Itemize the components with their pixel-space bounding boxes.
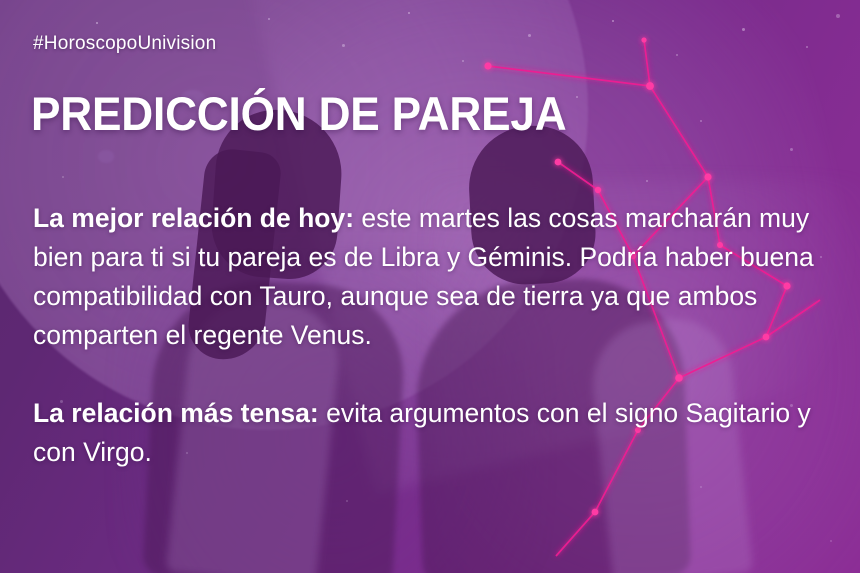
card-content: #HoroscopoUnivision PREDICCIÓN DE PAREJA… (0, 0, 860, 573)
page-title: PREDICCIÓN DE PAREJA (31, 89, 566, 139)
horoscope-card: #HoroscopoUnivision PREDICCIÓN DE PAREJA… (0, 0, 860, 573)
hashtag-label: #HoroscopoUnivision (33, 33, 216, 55)
paragraph-best-match: La mejor relación de hoy: este martes la… (33, 199, 833, 355)
paragraph-lead-label: La relación más tensa: (33, 398, 319, 428)
paragraph-tense-match: La relación más tensa: evita argumentos … (33, 394, 833, 472)
paragraph-lead-label: La mejor relación de hoy: (33, 203, 354, 233)
horoscope-body: La mejor relación de hoy: este martes la… (33, 199, 833, 472)
